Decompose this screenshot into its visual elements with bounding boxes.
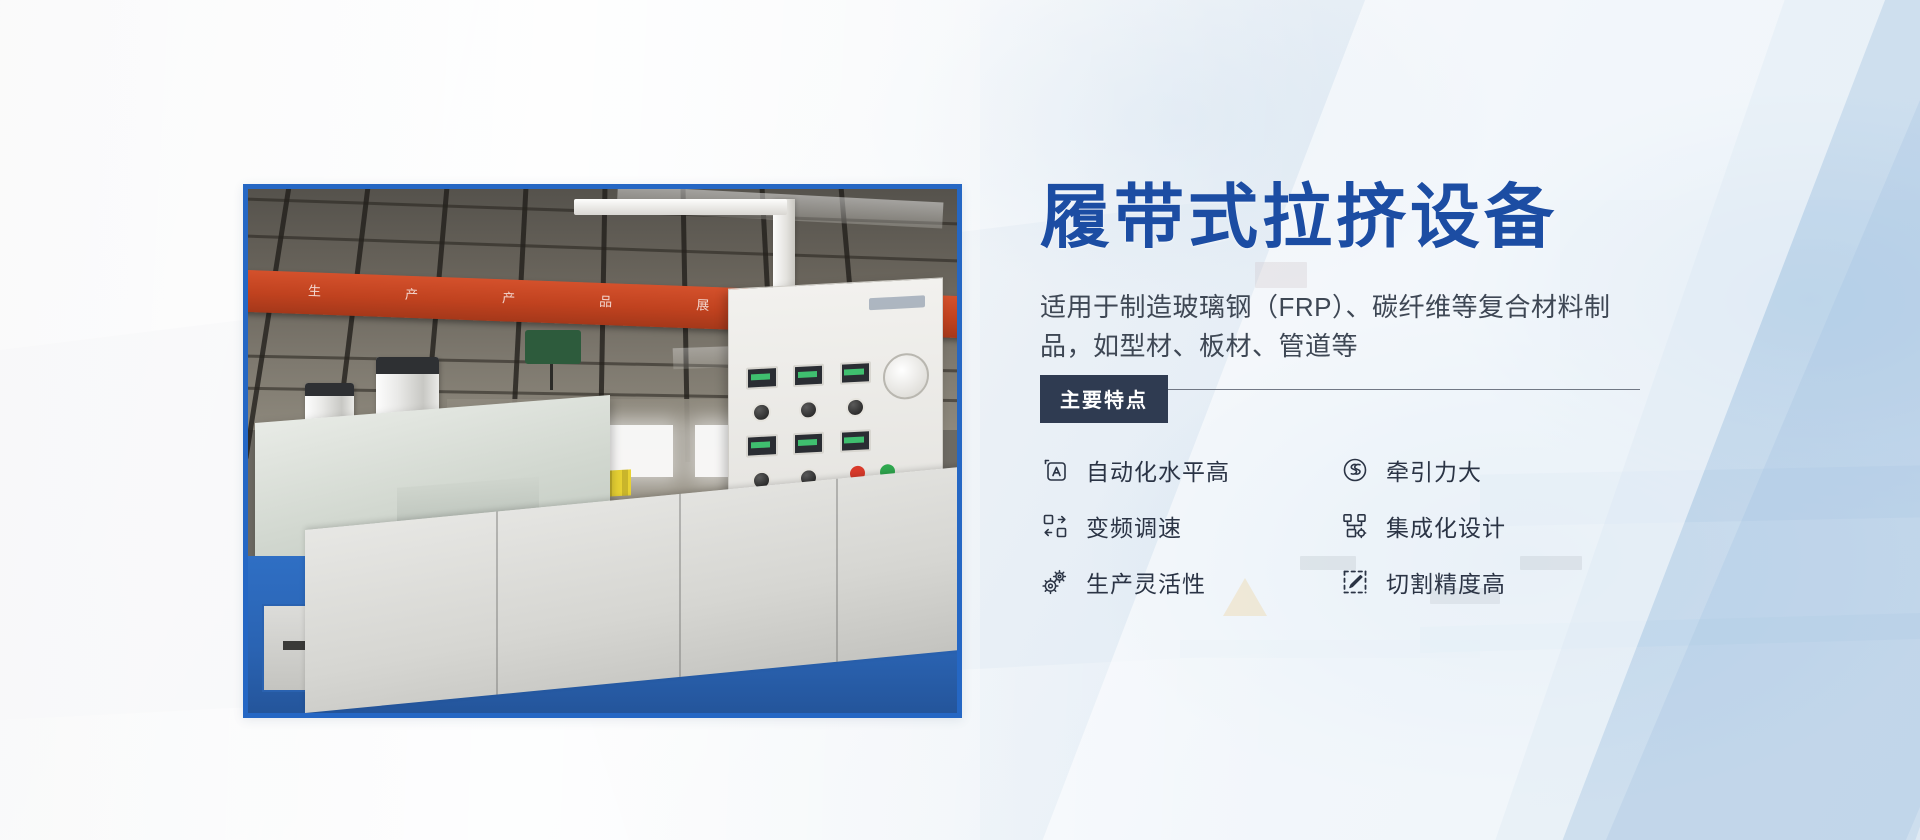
page-title: 履带式拉挤设备	[1040, 180, 1690, 256]
photo-cabinet-logo	[869, 295, 925, 310]
feature-label: 集成化设计	[1386, 509, 1506, 543]
photo-cabinet-meter	[840, 429, 872, 453]
feature-label: 自动化水平高	[1086, 453, 1230, 487]
gears-icon	[1040, 567, 1070, 597]
status-badge: 主要特点	[1040, 375, 1168, 423]
feature-list: 自动化水平高 牵引力大	[1040, 453, 1690, 599]
automation-square-a-icon	[1040, 455, 1070, 485]
photo-cabinet-gauge	[883, 353, 929, 401]
feature-item[interactable]: 生产灵活性	[1040, 565, 1340, 599]
traction-waves-circle-icon	[1340, 455, 1370, 485]
feature-item[interactable]: 切割精度高	[1340, 565, 1640, 599]
product-photo-content: 生 产 产 品 展 示	[248, 189, 957, 713]
feature-label: 变频调速	[1086, 509, 1182, 543]
product-photo[interactable]: 生 产 产 品 展 示	[243, 184, 962, 718]
product-banner: 生 产 产 品 展 示	[0, 0, 1920, 840]
banner-content: 履带式拉挤设备 适用于制造玻璃钢（FRP）、碳纤维等复合材料制品，如型材、板材、…	[1040, 180, 1690, 599]
frequency-transfer-icon	[1040, 511, 1070, 541]
banner-subtitle: 适用于制造玻璃钢（FRP）、碳纤维等复合材料制品，如型材、板材、管道等	[1040, 288, 1640, 367]
photo-cabinet-meter	[793, 363, 825, 387]
integrated-hierarchy-icon	[1340, 511, 1370, 541]
feature-item[interactable]: 变频调速	[1040, 509, 1340, 543]
background-band	[1180, 640, 1480, 658]
photo-mast-arm	[574, 199, 787, 215]
photo-cabinet-knob	[846, 398, 865, 418]
photo-cabinet-meter	[746, 434, 778, 458]
photo-cabinet-meter	[793, 432, 825, 456]
photo-cabinet-knob	[753, 403, 772, 423]
feature-label: 切割精度高	[1386, 565, 1506, 599]
feature-label: 牵引力大	[1386, 453, 1482, 487]
photo-cabinet-meter	[840, 361, 872, 385]
feature-item[interactable]: 牵引力大	[1340, 453, 1640, 487]
photo-cabinet-knob	[799, 400, 818, 420]
feature-item[interactable]: 集成化设计	[1340, 509, 1640, 543]
photo-crane-hoist	[525, 330, 581, 364]
feature-label: 生产灵活性	[1086, 565, 1206, 599]
feature-item[interactable]: 自动化水平高	[1040, 453, 1340, 487]
photo-cabinet-meter	[746, 366, 778, 390]
precision-pen-dashed-icon	[1340, 567, 1370, 597]
